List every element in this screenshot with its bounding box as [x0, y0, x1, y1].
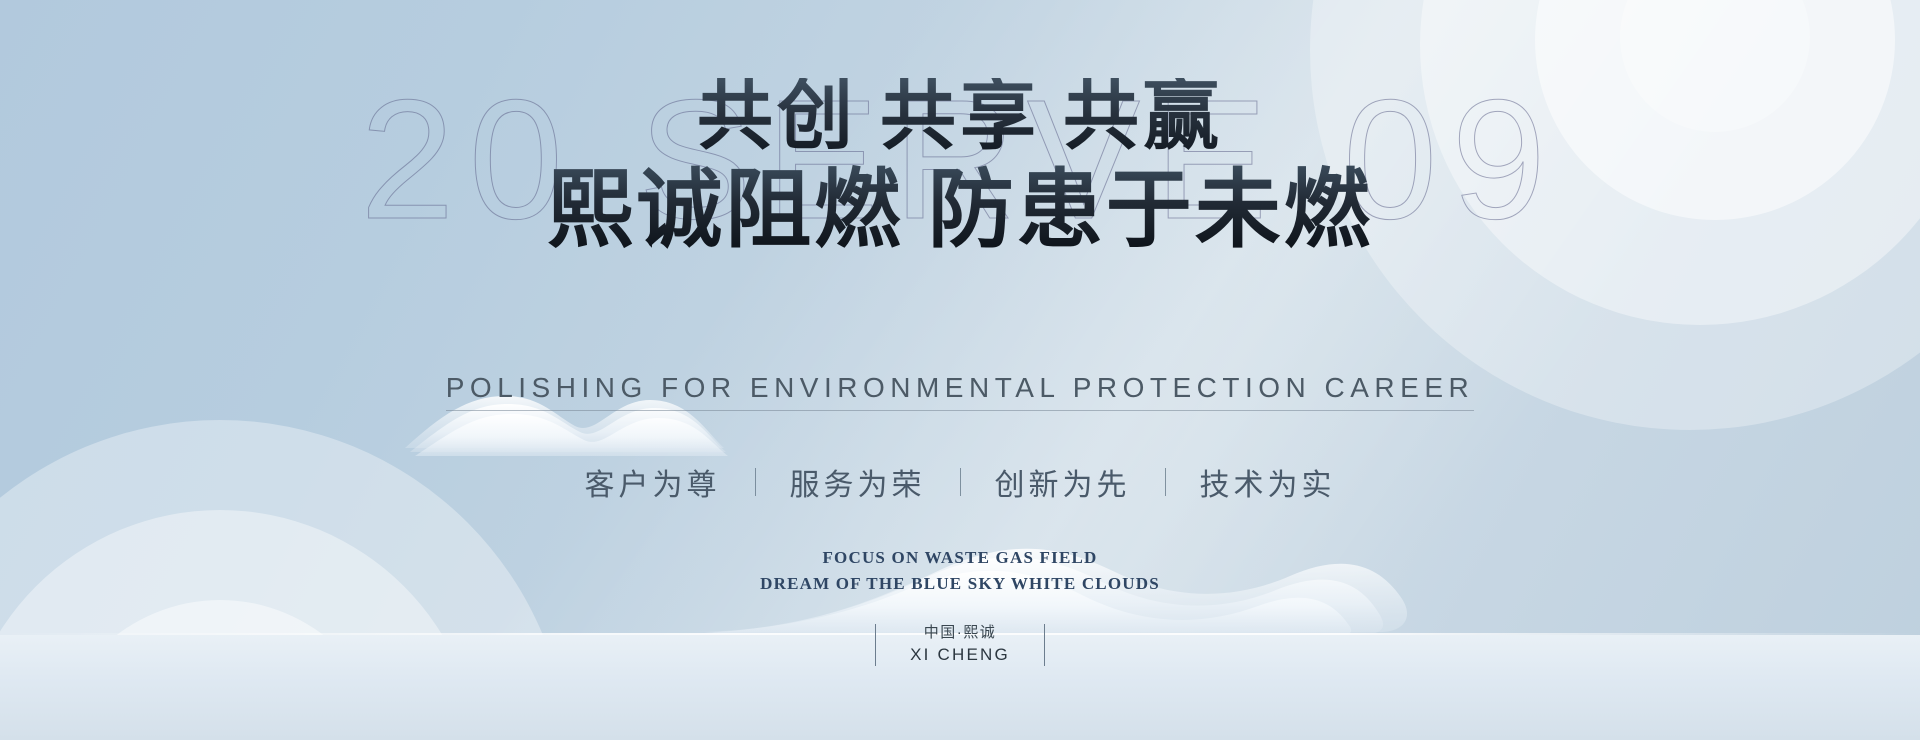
slogan-item-3: 创新为先	[995, 460, 1131, 504]
brand-badge: 中国·熙诚 XI CHENG	[0, 622, 1920, 668]
brand-bar-right	[1044, 624, 1046, 666]
cloud-left-front	[415, 414, 728, 456]
headline-block: 共创 共享 共赢 熙诚阻燃 防患于未燃	[0, 78, 1920, 257]
brand-bar-left	[875, 624, 877, 666]
brand-text-group: 中国·熙诚 XI CHENG	[910, 622, 1010, 668]
slogan-item-2: 服务为荣	[790, 460, 926, 504]
banner-canvas: 20 SERVE 09	[0, 0, 1920, 740]
slogan-separator-2	[960, 468, 961, 496]
slogan-separator-3	[1165, 468, 1166, 496]
tagline-block: FOCUS ON WASTE GAS FIELD DREAM OF THE BL…	[0, 545, 1920, 598]
headline-line-1: 共创 共享 共赢	[0, 78, 1920, 158]
cloud-left-mid	[410, 404, 726, 452]
slogan-item-1: 客户为尊	[585, 460, 721, 504]
brand-name-cn: 中国·熙诚	[910, 622, 1010, 644]
brand-name-en: XI CHENG	[910, 643, 1010, 668]
slogan-row: 客户为尊 服务为荣 创新为先 技术为实	[0, 460, 1920, 504]
subtitle-block: POLISHING FOR ENVIRONMENTAL PROTECTION C…	[0, 372, 1920, 411]
headline-line-2: 熙诚阻燃 防患于未燃	[0, 164, 1920, 257]
subtitle-english: POLISHING FOR ENVIRONMENTAL PROTECTION C…	[446, 372, 1474, 411]
slogan-separator-1	[755, 468, 756, 496]
tagline-line-2: DREAM OF THE BLUE SKY WHITE CLOUDS	[0, 571, 1920, 597]
tagline-line-1: FOCUS ON WASTE GAS FIELD	[0, 545, 1920, 571]
slogan-item-4: 技术为实	[1200, 460, 1336, 504]
